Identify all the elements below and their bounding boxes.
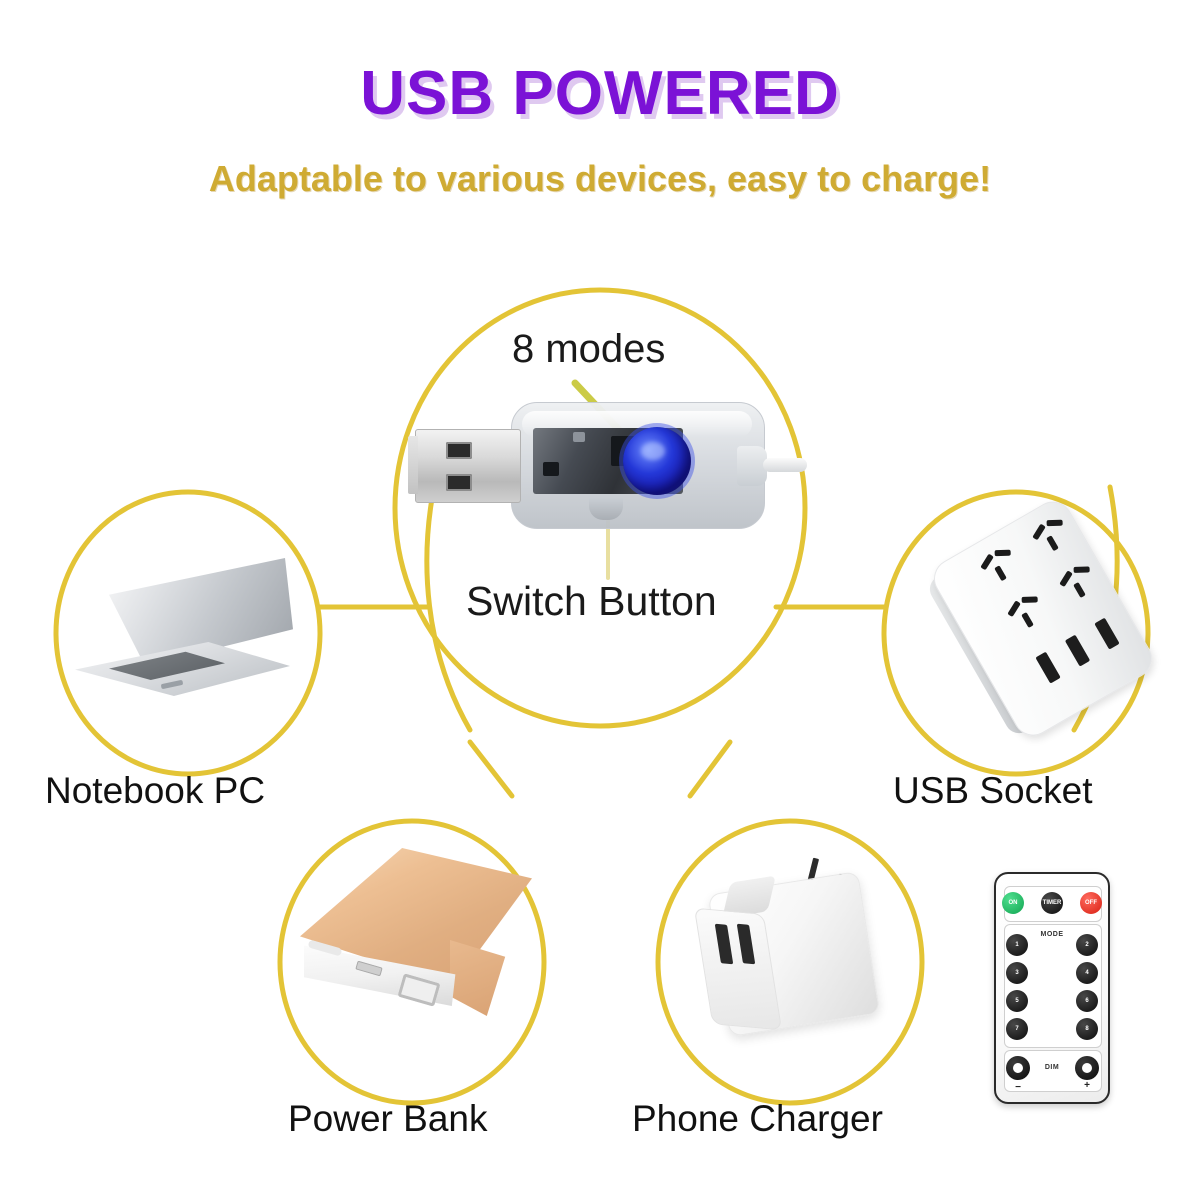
usb-controller-art bbox=[415, 402, 785, 527]
infographic-canvas: USB POWERED Adaptable to various devices… bbox=[0, 0, 1200, 1200]
remote-dim-plus: + bbox=[1031, 1080, 1143, 1091]
usb-chip-contact bbox=[573, 432, 585, 442]
remote-number-2[interactable]: 2 bbox=[1076, 934, 1098, 956]
caption-power-bank: Power Bank bbox=[288, 1098, 488, 1140]
remote-number-6[interactable]: 6 bbox=[1076, 990, 1098, 1012]
power-bank-side-shell bbox=[450, 940, 542, 1016]
remote-on-button[interactable]: ON bbox=[1002, 892, 1024, 914]
label-8-modes: 8 modes bbox=[512, 327, 665, 372]
caption-notebook-pc: Notebook PC bbox=[45, 770, 265, 812]
remote-dim-label: DIM bbox=[996, 1064, 1108, 1071]
remote-number-7[interactable]: 7 bbox=[1006, 1018, 1028, 1040]
caption-phone-charger: Phone Charger bbox=[632, 1098, 883, 1140]
usb-pin-bottom bbox=[446, 474, 472, 491]
power-strip-body bbox=[927, 494, 1159, 742]
remote-number-4[interactable]: 4 bbox=[1076, 962, 1098, 984]
ac-socket-4 bbox=[1053, 553, 1122, 618]
page-subtitle: Adaptable to various devices, easy to ch… bbox=[0, 158, 1200, 200]
wall-charger-art bbox=[690, 852, 890, 1052]
remote-off-button[interactable]: OFF bbox=[1080, 892, 1102, 914]
caption-usb-socket: USB Socket bbox=[893, 770, 1092, 812]
usb-port-3 bbox=[1094, 618, 1119, 650]
remote-number-1[interactable]: 1 bbox=[1006, 934, 1028, 956]
remote-number-8[interactable]: 8 bbox=[1076, 1018, 1098, 1040]
remote-number-3[interactable]: 3 bbox=[1006, 962, 1028, 984]
usb-port-1 bbox=[1035, 652, 1060, 684]
page-title: USB POWERED bbox=[0, 58, 1200, 129]
connector-power-bank bbox=[470, 742, 512, 796]
remote-timer-button[interactable]: TIMER bbox=[1041, 892, 1063, 914]
usb-port-2 bbox=[1065, 635, 1090, 667]
power-strip-art bbox=[901, 473, 1191, 763]
label-switch-button: Switch Button bbox=[466, 578, 717, 625]
laptop-art bbox=[75, 558, 311, 708]
connector-phone-charger bbox=[690, 742, 730, 796]
remote-control[interactable]: ON TIMER OFF MODE 1 2 3 4 5 6 7 8 DIM − … bbox=[994, 872, 1110, 1104]
usb-cable bbox=[763, 458, 807, 472]
usb-pin-top bbox=[446, 442, 472, 459]
usb-chip-small bbox=[543, 462, 559, 476]
usb-body-nub bbox=[589, 498, 623, 520]
power-bank-art bbox=[300, 848, 540, 1038]
remote-number-5[interactable]: 5 bbox=[1006, 990, 1028, 1012]
switch-button[interactable] bbox=[623, 427, 691, 495]
usb-a-connector bbox=[415, 429, 521, 503]
